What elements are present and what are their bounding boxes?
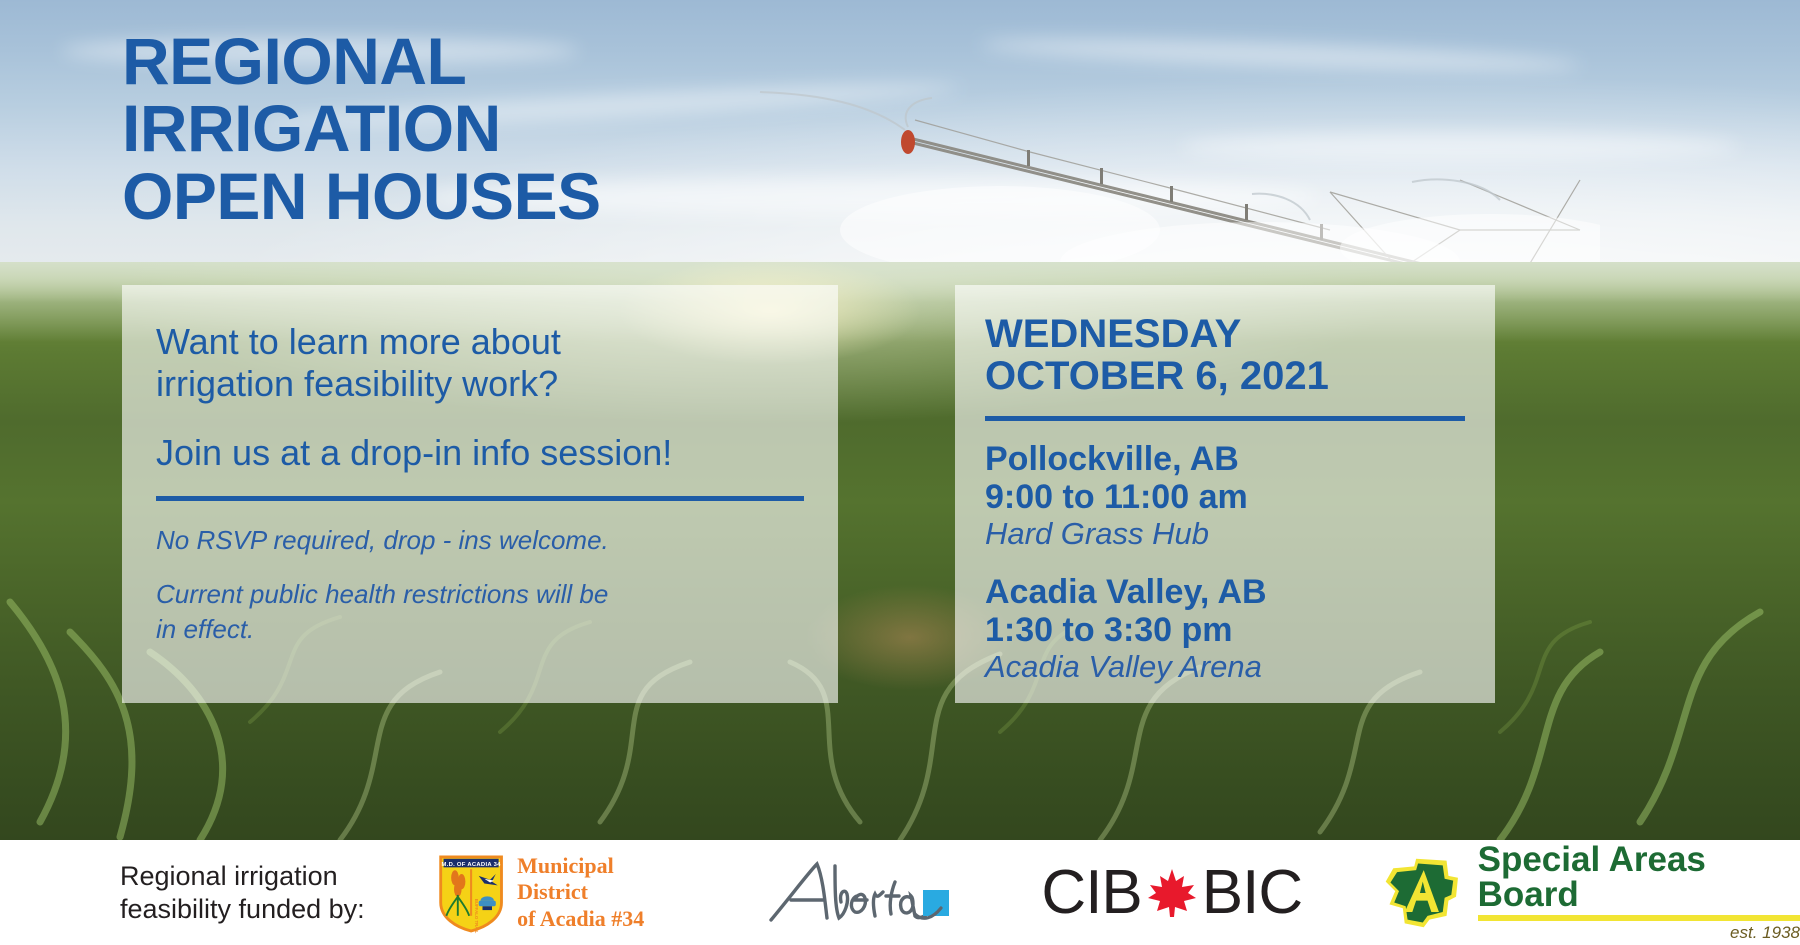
divider-right bbox=[985, 416, 1465, 421]
crest-motto-text: BUFFALO TRAIL bbox=[474, 898, 479, 933]
session-time: 1:30 to 3:30 pm bbox=[985, 611, 1465, 649]
special-areas-map-icon bbox=[1380, 851, 1467, 935]
cib-text: CIB bbox=[1041, 862, 1141, 924]
lead-question: Want to learn more about irrigation feas… bbox=[156, 321, 804, 406]
maple-leaf-icon bbox=[1144, 865, 1200, 921]
special-areas-board-name: Special Areas Board bbox=[1478, 842, 1800, 912]
crest-banner-text: M.D. OF ACADIA 34 bbox=[441, 861, 501, 867]
special-areas-est: est. 1938 bbox=[1478, 923, 1800, 943]
rsvp-note: No RSVP required, drop - ins welcome. bbox=[156, 523, 804, 558]
alberta-script-icon bbox=[765, 856, 955, 930]
irrigation-open-house-poster: REGIONAL IRRIGATION OPEN HOUSES Want to … bbox=[0, 0, 1800, 945]
bic-text: BIC bbox=[1202, 862, 1302, 924]
sponsor-footer: Regional irrigation feasibility funded b… bbox=[0, 840, 1800, 945]
health-restrictions-note: Current public health restrictions will … bbox=[156, 577, 804, 647]
event-date: WEDNESDAY OCTOBER 6, 2021 bbox=[985, 313, 1465, 398]
special-areas-underline bbox=[1478, 915, 1800, 921]
alberta-logo bbox=[765, 856, 955, 930]
right-schedule-panel: WEDNESDAY OCTOBER 6, 2021 Pollockville, … bbox=[955, 285, 1495, 703]
left-info-panel: Want to learn more about irrigation feas… bbox=[122, 285, 838, 703]
md-acadia-name: Municipal District of Acadia #34 bbox=[517, 853, 681, 932]
session-item: Acadia Valley, AB 1:30 to 3:30 pm Acadia… bbox=[985, 574, 1465, 685]
md-acadia-crest-icon: M.D. OF ACADIA 34 bbox=[435, 851, 507, 935]
cib-bic-logo: CIB BIC bbox=[1041, 862, 1302, 924]
cloud-wisp bbox=[980, 34, 1580, 77]
md-acadia-logo: M.D. OF ACADIA 34 bbox=[435, 851, 681, 935]
session-place: Pollockville, AB bbox=[985, 441, 1465, 478]
session-item: Pollockville, AB 9:00 to 11:00 am Hard G… bbox=[985, 441, 1465, 552]
session-venue: Hard Grass Hub bbox=[985, 516, 1465, 552]
special-areas-board-text: Special Areas Board est. 1938 bbox=[1478, 842, 1800, 943]
page-title: REGIONAL IRRIGATION OPEN HOUSES bbox=[122, 28, 601, 230]
session-time: 9:00 to 11:00 am bbox=[985, 478, 1465, 516]
divider-left bbox=[156, 496, 804, 501]
session-venue: Acadia Valley Arena bbox=[985, 649, 1465, 685]
lead-invitation: Join us at a drop-in info session! bbox=[156, 432, 804, 474]
session-place: Acadia Valley, AB bbox=[985, 574, 1465, 611]
funded-by-text: Regional irrigation feasibility funded b… bbox=[120, 860, 377, 925]
special-areas-board-logo: Special Areas Board est. 1938 bbox=[1380, 842, 1800, 943]
